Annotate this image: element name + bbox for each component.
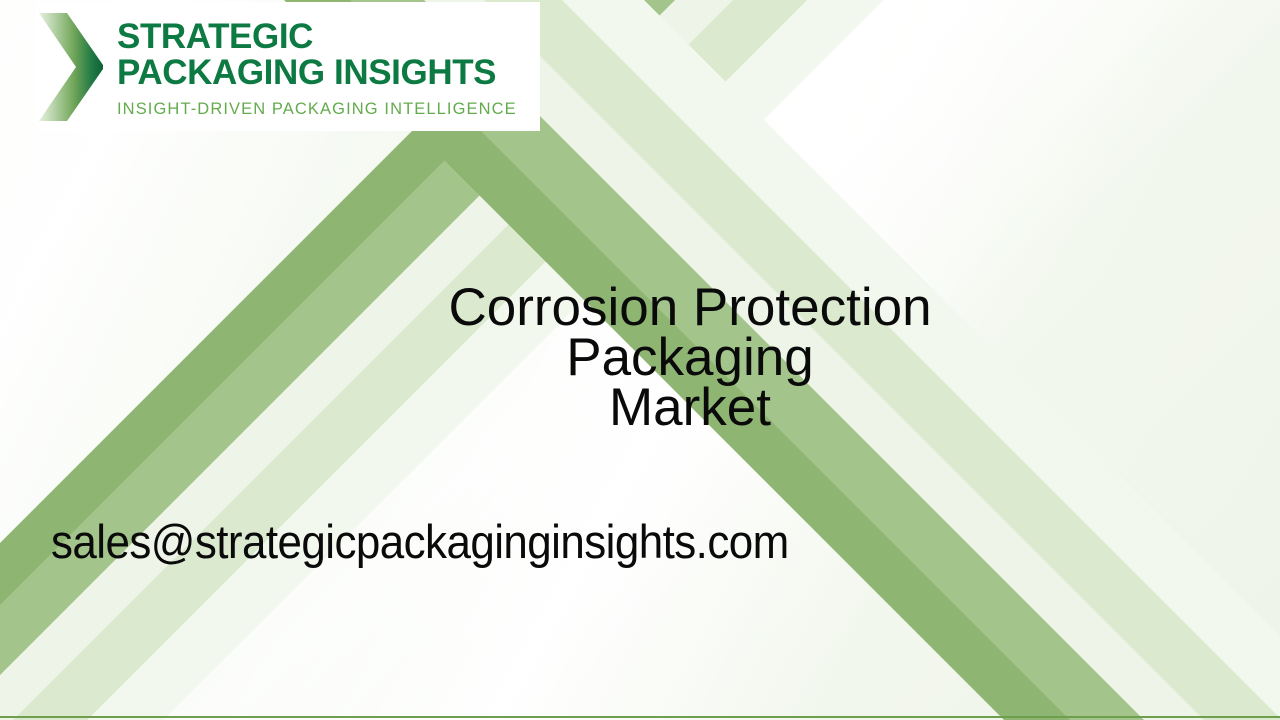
logo-tagline: INSIGHT-DRIVEN PACKAGING INTELLIGENCE <box>117 100 517 119</box>
logo-line-2: PACKAGING INSIGHTS <box>117 55 517 91</box>
company-logo: STRATEGIC PACKAGING INSIGHTS INSIGHT-DRI… <box>36 2 540 131</box>
bottom-accent-rule <box>0 716 1280 718</box>
logo-line-1: STRATEGIC <box>117 19 517 55</box>
slide-title: Corrosion Protection Packaging Market <box>330 283 1050 433</box>
presentation-slide: STRATEGIC PACKAGING INSIGHTS INSIGHT-DRI… <box>0 0 1280 720</box>
contact-email[interactable]: sales@strategicpackaginginsights.com <box>51 511 789 573</box>
chevron-mark-icon <box>37 7 105 127</box>
logo-wordmark: STRATEGIC PACKAGING INSIGHTS INSIGHT-DRI… <box>117 15 517 119</box>
